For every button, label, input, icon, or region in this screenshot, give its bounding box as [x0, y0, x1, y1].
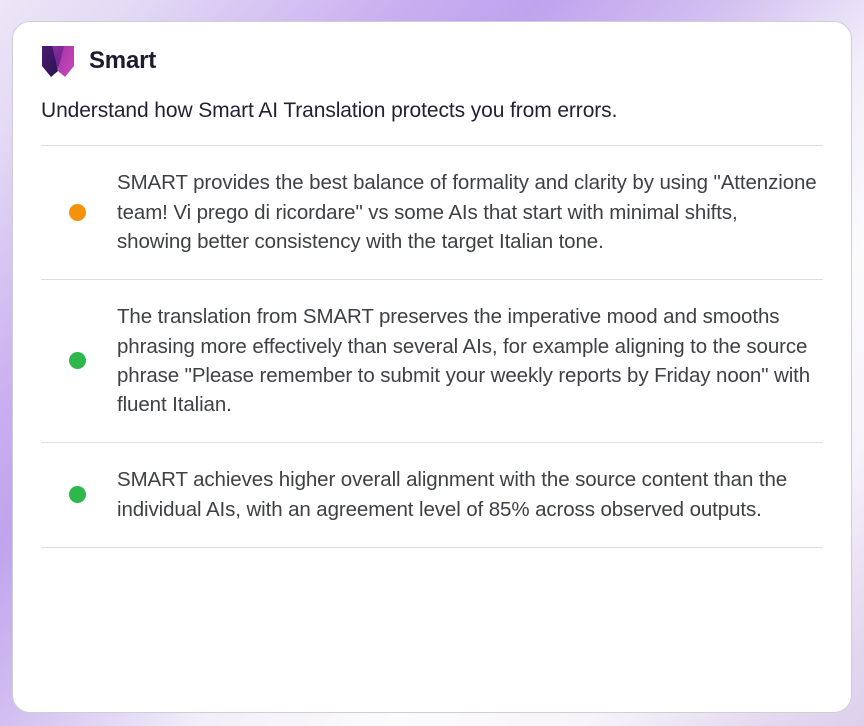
card-header: Smart [41, 22, 823, 78]
smart-insight-card: Smart Understand how Smart AI Translatio… [12, 21, 852, 713]
insight-text: The translation from SMART preserves the… [117, 302, 823, 419]
status-dot-icon [69, 204, 86, 221]
card-subtitle: Understand how Smart AI Translation prot… [41, 98, 823, 124]
divider [41, 547, 823, 548]
bullet-cell [41, 204, 117, 221]
list-item: SMART achieves higher overall alignment … [41, 443, 823, 547]
insight-text: SMART achieves higher overall alignment … [117, 465, 823, 524]
smart-butterfly-logo-icon [41, 44, 75, 78]
list-item: The translation from SMART preserves the… [41, 280, 823, 442]
list-item: SMART provides the best balance of forma… [41, 146, 823, 279]
status-dot-icon [69, 352, 86, 369]
bullet-cell [41, 486, 117, 503]
insight-text: SMART provides the best balance of forma… [117, 168, 823, 256]
bullet-cell [41, 352, 117, 369]
status-dot-icon [69, 486, 86, 503]
app-background: Smart Understand how Smart AI Translatio… [0, 0, 864, 726]
page-title: Smart [89, 49, 156, 73]
